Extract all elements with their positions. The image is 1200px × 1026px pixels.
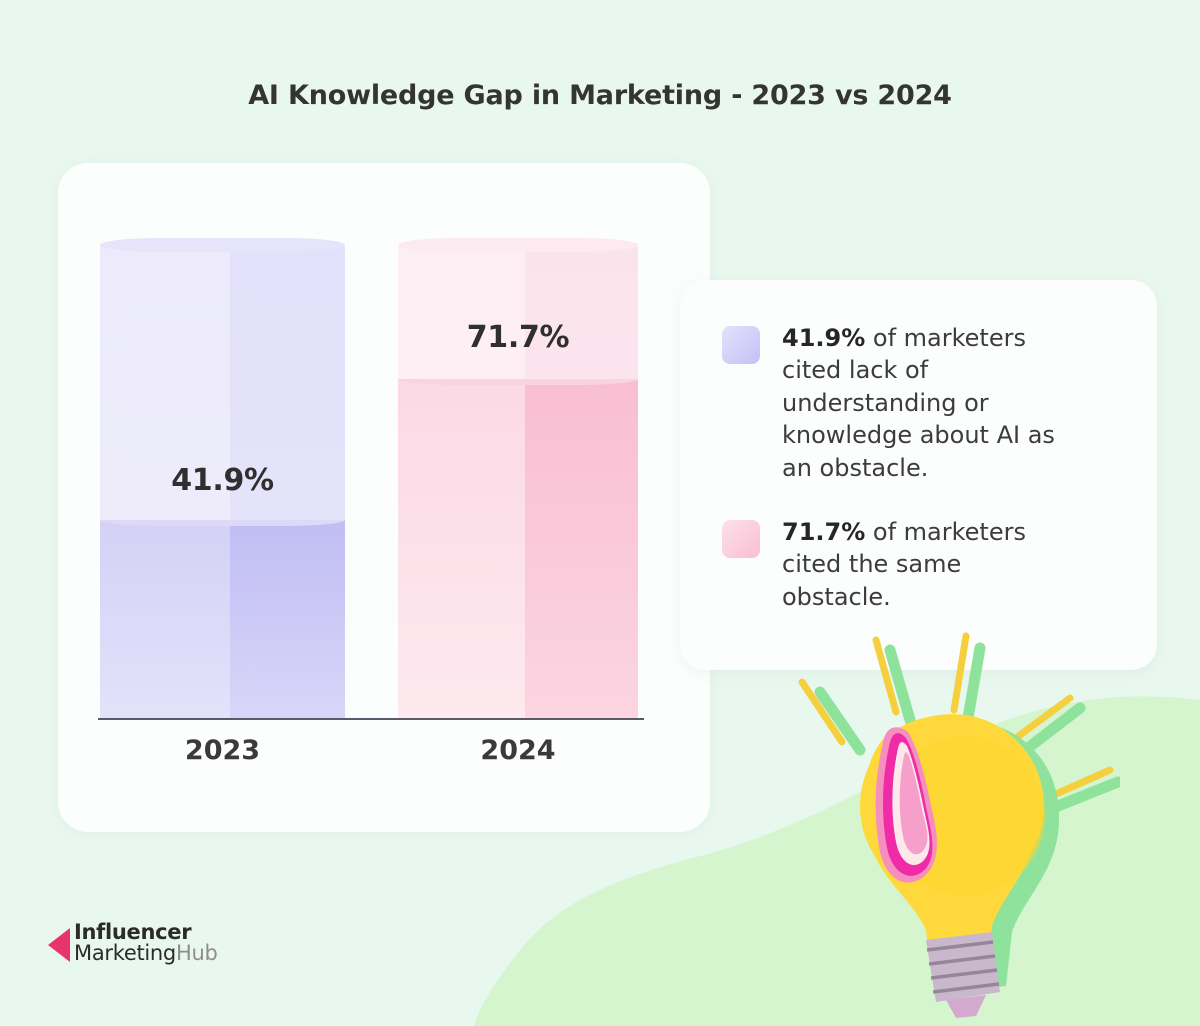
legend-item-2023[interactable]: 41.9% of marketers cited lack of underst… xyxy=(722,322,1121,484)
x-axis-line xyxy=(98,718,644,720)
bar-2024-top-cap xyxy=(398,238,638,252)
lightbulb-illustration xyxy=(780,620,1120,1020)
legend-card: 41.9% of marketers cited lack of underst… xyxy=(680,280,1157,670)
legend-item-2024[interactable]: 71.7% of marketers cited the same obstac… xyxy=(722,516,1121,613)
bar-2024-value-label: 71.7% xyxy=(398,320,638,355)
bar-2023[interactable]: 41.9% xyxy=(100,245,345,718)
legend-value-2024: 71.7% xyxy=(782,518,865,546)
lightbulb-base xyxy=(926,932,1000,1018)
logo-marketing: Marketing xyxy=(74,941,176,965)
page-title: AI Knowledge Gap in Marketing - 2023 vs … xyxy=(0,80,1200,111)
bar-2023-value-label: 41.9% xyxy=(100,463,345,498)
legend-swatch-purple xyxy=(722,326,760,364)
legend-value-2023: 41.9% xyxy=(782,324,865,352)
logo-triangle-icon xyxy=(48,928,70,962)
bar-2023-fill-cap xyxy=(100,520,345,526)
legend-text-2024: 71.7% of marketers cited the same obstac… xyxy=(782,516,1072,613)
logo-line-1: Influencer xyxy=(74,922,218,943)
bar-2023-fill xyxy=(100,520,345,718)
bar-2024-fill-cap xyxy=(398,379,638,385)
logo-wordmark: Influencer MarketingHub xyxy=(74,922,218,965)
category-label-2023: 2023 xyxy=(100,735,345,766)
bar-2024-fill xyxy=(398,379,638,718)
logo-hub: Hub xyxy=(176,941,218,965)
logo-line-2: MarketingHub xyxy=(74,943,218,964)
brand-logo[interactable]: Influencer MarketingHub xyxy=(48,922,218,965)
legend-text-2023: 41.9% of marketers cited lack of underst… xyxy=(782,322,1072,484)
legend-swatch-pink xyxy=(722,520,760,558)
bar-2023-top-cap xyxy=(100,238,345,252)
bar-2024[interactable]: 71.7% xyxy=(398,245,638,718)
category-label-2024: 2024 xyxy=(398,735,638,766)
